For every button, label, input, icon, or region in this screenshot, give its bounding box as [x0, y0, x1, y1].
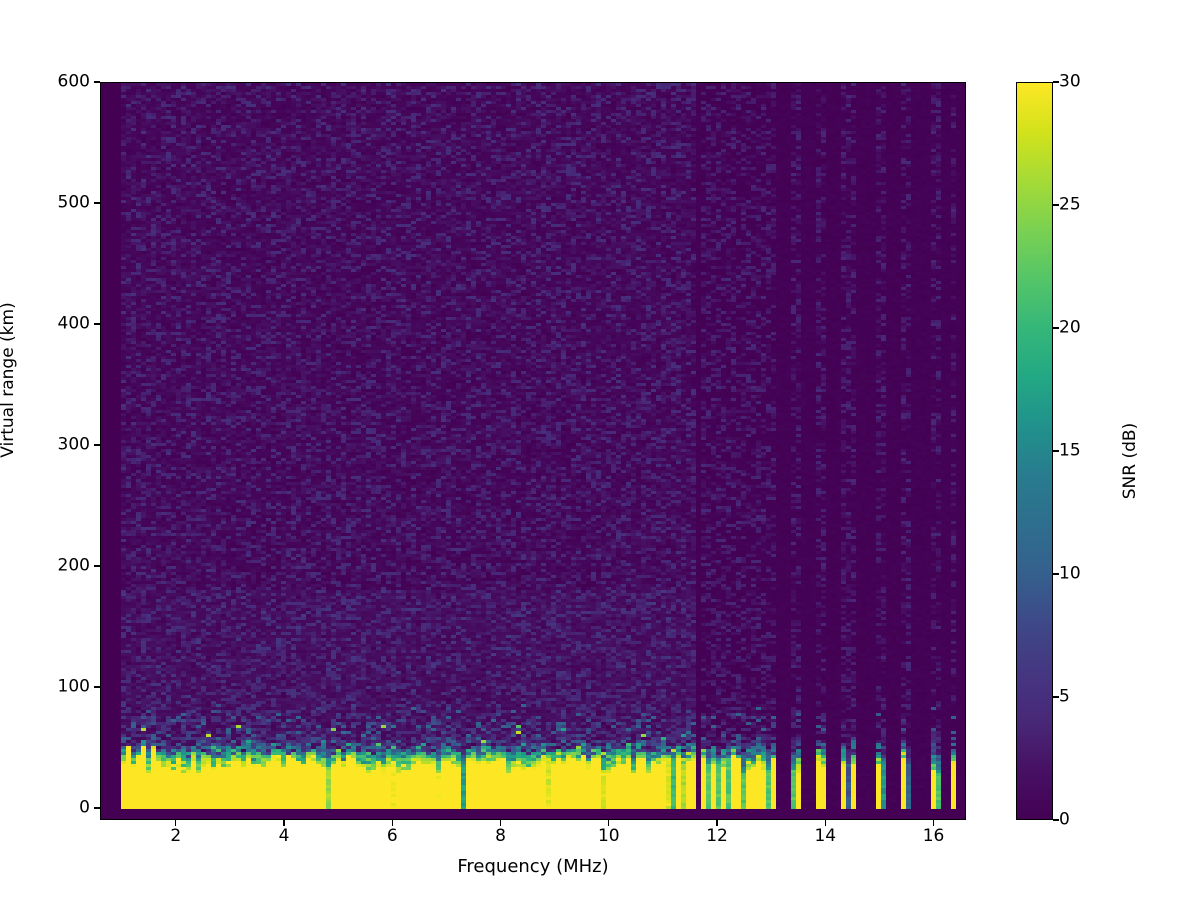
- colorbar-tick-mark: [1053, 450, 1059, 451]
- x-tick-mark: [716, 820, 717, 826]
- x-tick-label: 6: [362, 828, 422, 845]
- x-tick-label: 4: [254, 828, 314, 845]
- colorbar-tick-mark: [1053, 696, 1059, 697]
- colorbar-tick-label: 30: [1059, 74, 1081, 91]
- x-tick-mark: [933, 820, 934, 826]
- x-tick-mark: [608, 820, 609, 826]
- ionogram-heatmap: [101, 83, 966, 820]
- heatmap-layer: [101, 83, 965, 819]
- colorbar-tick-label: 5: [1059, 689, 1070, 706]
- y-tick-label: 400: [58, 315, 90, 332]
- x-tick-label: 2: [146, 828, 206, 845]
- colorbar-tick-label: 0: [1059, 812, 1070, 829]
- colorbar-tick-label: 25: [1059, 197, 1081, 214]
- x-tick-mark: [500, 820, 501, 826]
- colorbar-tick-label: 10: [1059, 566, 1081, 583]
- x-tick-mark: [175, 820, 176, 826]
- y-tick-mark: [94, 444, 100, 445]
- y-tick-label: 300: [58, 436, 90, 453]
- colorbar: [1016, 82, 1053, 820]
- colorbar-tick-mark: [1053, 327, 1059, 328]
- y-tick-mark: [94, 565, 100, 566]
- x-tick-mark: [392, 820, 393, 826]
- colorbar-tick-mark: [1053, 573, 1059, 574]
- y-tick-mark: [94, 686, 100, 687]
- y-tick-mark: [94, 81, 100, 82]
- x-tick-mark: [283, 820, 284, 826]
- colorbar-tick-mark: [1053, 81, 1059, 82]
- colorbar-tick-label: 20: [1059, 320, 1081, 337]
- y-tick-label: 500: [58, 194, 90, 211]
- y-axis-label: Virtual range (km): [0, 130, 18, 630]
- x-tick-label: 14: [795, 828, 855, 845]
- x-tick-label: 10: [579, 828, 639, 845]
- colorbar-label: SNR (dB): [1120, 211, 1140, 711]
- y-tick-label: 100: [58, 678, 90, 695]
- y-tick-label: 0: [79, 799, 90, 816]
- colorbar-tick-mark: [1053, 204, 1059, 205]
- y-tick-mark: [94, 323, 100, 324]
- y-tick-mark: [94, 807, 100, 808]
- x-tick-label: 12: [687, 828, 747, 845]
- y-tick-mark: [94, 202, 100, 203]
- x-axis-label: Frequency (MHz): [100, 856, 966, 877]
- x-tick-mark: [825, 820, 826, 826]
- ionogram-figure: IRF Kiruna Ionosonde KI167 2025-12-11 01…: [0, 0, 1200, 900]
- plot-axes: [100, 82, 966, 820]
- x-tick-label: 16: [904, 828, 964, 845]
- colorbar-tick-label: 15: [1059, 443, 1081, 460]
- y-tick-label: 600: [58, 74, 90, 91]
- x-tick-label: 8: [471, 828, 531, 845]
- colorbar-tick-mark: [1053, 819, 1059, 820]
- y-tick-label: 200: [58, 557, 90, 574]
